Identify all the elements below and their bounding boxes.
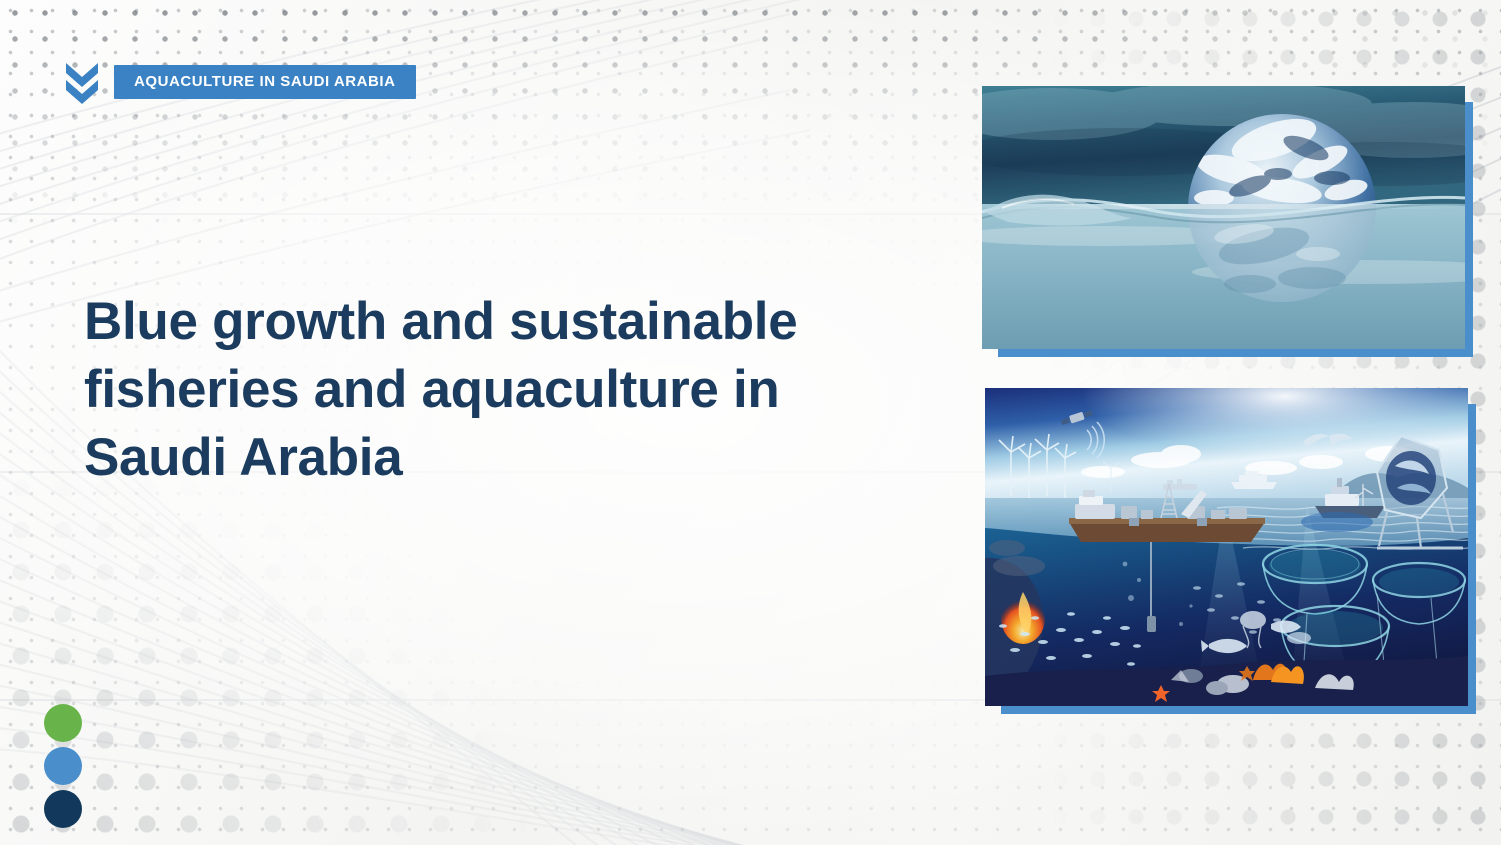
dot-stack — [44, 704, 82, 828]
presentation-slide: AQUACULTURE IN SAUDI ARABIA Blue growth … — [0, 0, 1501, 845]
dot-blue — [44, 747, 82, 785]
globe-in-water-photo — [982, 86, 1465, 349]
blue-economy-illustration-card — [985, 388, 1468, 706]
double-chevron-down-icon — [64, 60, 100, 104]
eyebrow-row: AQUACULTURE IN SAUDI ARABIA — [64, 60, 416, 104]
blue-economy-illustration — [985, 388, 1468, 706]
globe-in-water-photo-card — [982, 86, 1465, 349]
dot-green — [44, 704, 82, 742]
dot-navy — [44, 790, 82, 828]
eyebrow-badge-label: AQUACULTURE IN SAUDI ARABIA — [114, 65, 416, 99]
page-title: Blue growth and sustainable fisheries an… — [84, 288, 914, 491]
